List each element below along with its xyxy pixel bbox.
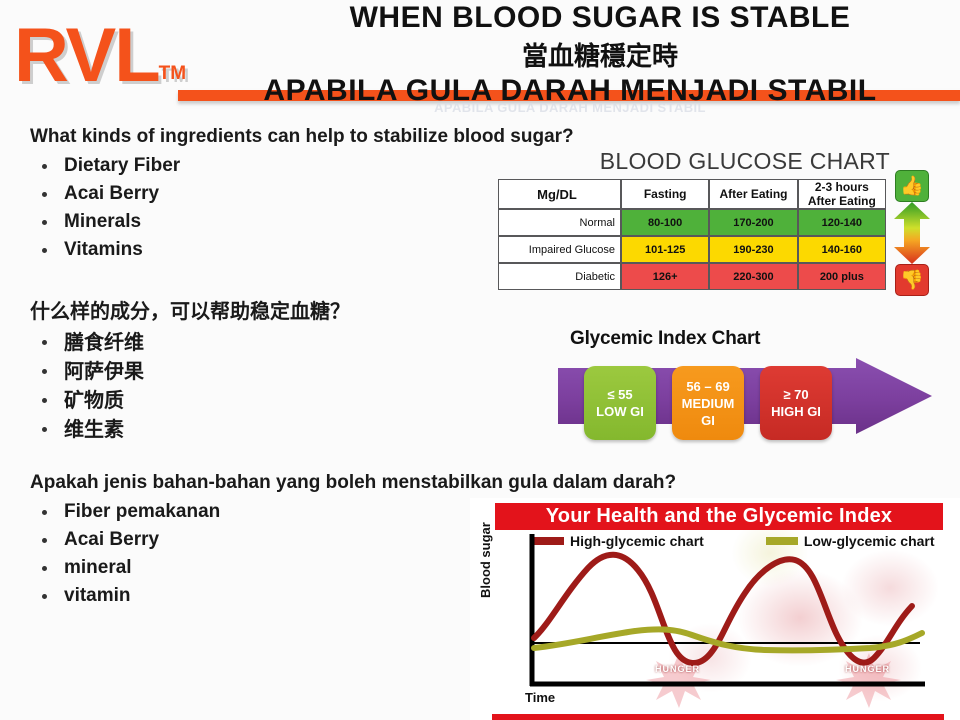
glycemic-index-line-chart: Your Health and the Glycemic Index High-… — [470, 498, 960, 720]
row-label-diabetic: Diabetic — [498, 263, 621, 290]
column-header-2-3-hours: 2-3 hours After Eating — [798, 179, 886, 209]
glycemic-index-boxes: ≤ 55 LOW GI 56 – 69 MEDIUM GI ≥ 70 HIGH … — [584, 366, 832, 440]
annotation-hunger-1: HUNGER — [655, 664, 700, 674]
rvl-logo-text: RVL — [14, 13, 159, 98]
gi-high-label: HIGH GI — [771, 403, 821, 420]
page-title-zh: 當血糖穩定時 — [300, 36, 900, 73]
slide-root: RVLTM WHEN BLOOD SUGAR IS STABLE 當血糖穩定時 … — [0, 0, 960, 720]
list-item: Minerals — [30, 208, 574, 236]
table-row: Impaired Glucose 101-125 190-230 140-160 — [498, 236, 886, 263]
cell-diabetic-after-eating: 220-300 — [709, 263, 797, 290]
page-title-en: WHEN BLOOD SUGAR IS STABLE — [300, 1, 900, 35]
gi-medium-range: 56 – 69 — [686, 378, 729, 395]
list-item: Vitamins — [30, 236, 574, 264]
series-low-glycemic — [534, 629, 922, 650]
list-item: Acai Berry — [30, 180, 574, 208]
column-header-fasting: Fasting — [621, 179, 709, 209]
question-english: What kinds of ingredients can help to st… — [30, 126, 574, 148]
thumbs-down-icon: 👎 — [895, 264, 929, 296]
cell-impaired-fasting: 101-125 — [621, 236, 709, 263]
cell-diabetic-fasting: 126+ — [621, 263, 709, 290]
glucose-status-indicator: 👍 👎 — [890, 170, 936, 296]
row-label-impaired-glucose: Impaired Glucose — [498, 236, 621, 263]
rvl-logo: RVLTM — [14, 18, 186, 114]
glycemic-index-chart: Glycemic Index Chart ≤ 55 LOW GI 56 – 69… — [556, 328, 936, 468]
gi-medium-label-line2: GI — [701, 412, 715, 429]
cell-normal-fasting: 80-100 — [621, 209, 709, 236]
list-item: 维生素 — [30, 415, 350, 444]
table-header-row: Mg/DL Fasting After Eating 2-3 hours Aft… — [498, 179, 886, 209]
table-row: Normal 80-100 170-200 120-140 — [498, 209, 886, 236]
gi-box-medium: 56 – 69 MEDIUM GI — [672, 366, 744, 440]
ingredient-list-chinese: 膳食纤维 阿萨伊果 矿物质 维生素 — [30, 328, 350, 444]
cell-diabetic-2-3-hours: 200 plus — [798, 263, 886, 290]
column-header-after-eating: After Eating — [709, 179, 797, 209]
blood-glucose-table: Mg/DL Fasting After Eating 2-3 hours Aft… — [498, 179, 886, 290]
row-label-normal: Normal — [498, 209, 621, 236]
column-header-line1: 2-3 hours — [799, 180, 885, 194]
question-malay: Apakah jenis bahan-bahan yang boleh mens… — [30, 472, 676, 494]
gradient-double-arrow-icon — [893, 202, 931, 264]
list-item: 阿萨伊果 — [30, 357, 350, 386]
gi-box-high: ≥ 70 HIGH GI — [760, 366, 832, 440]
trademark-mark: TM — [159, 63, 186, 84]
gi-box-low: ≤ 55 LOW GI — [584, 366, 656, 440]
list-item: 矿物质 — [30, 386, 350, 415]
gi-low-label: LOW GI — [596, 403, 644, 420]
list-item: Dietary Fiber — [30, 152, 574, 180]
y-axis-label: Blood sugar — [478, 522, 493, 598]
cell-impaired-after-eating: 190-230 — [709, 236, 797, 263]
blood-glucose-chart-title: BLOOD GLUCOSE CHART — [498, 148, 890, 175]
cell-impaired-2-3-hours: 140-160 — [798, 236, 886, 263]
content-block-chinese: 什么样的成分，可以帮助稳定血糖？ 膳食纤维 阿萨伊果 矿物质 维生素 — [30, 295, 350, 444]
cell-normal-after-eating: 170-200 — [709, 209, 797, 236]
question-chinese: 什么样的成分，可以帮助稳定血糖？ — [30, 295, 350, 324]
page-title-ms: APABILA GULA DARAH MENJADI STABIL — [190, 74, 950, 108]
gi-low-range: ≤ 55 — [607, 386, 632, 403]
ingredient-list-english: Dietary Fiber Acai Berry Minerals Vitami… — [30, 152, 574, 264]
gi-medium-label-line1: MEDIUM — [682, 395, 735, 412]
table-corner-label: Mg/DL — [498, 179, 621, 209]
line-chart-footer-bar — [492, 714, 944, 720]
thumbs-up-icon: 👍 — [895, 170, 929, 202]
cell-normal-2-3-hours: 120-140 — [798, 209, 886, 236]
line-chart-plot — [470, 498, 960, 720]
gi-high-range: ≥ 70 — [783, 386, 808, 403]
table-row: Diabetic 126+ 220-300 200 plus — [498, 263, 886, 290]
column-header-line2: After Eating — [799, 194, 885, 208]
glycemic-index-chart-title: Glycemic Index Chart — [570, 328, 936, 350]
blood-glucose-chart: BLOOD GLUCOSE CHART Mg/DL Fasting After … — [498, 148, 890, 290]
annotation-hunger-2: HUNGER — [845, 664, 890, 674]
content-block-english: What kinds of ingredients can help to st… — [30, 126, 574, 264]
x-axis-label: Time — [525, 690, 555, 705]
list-item: 膳食纤维 — [30, 328, 350, 357]
